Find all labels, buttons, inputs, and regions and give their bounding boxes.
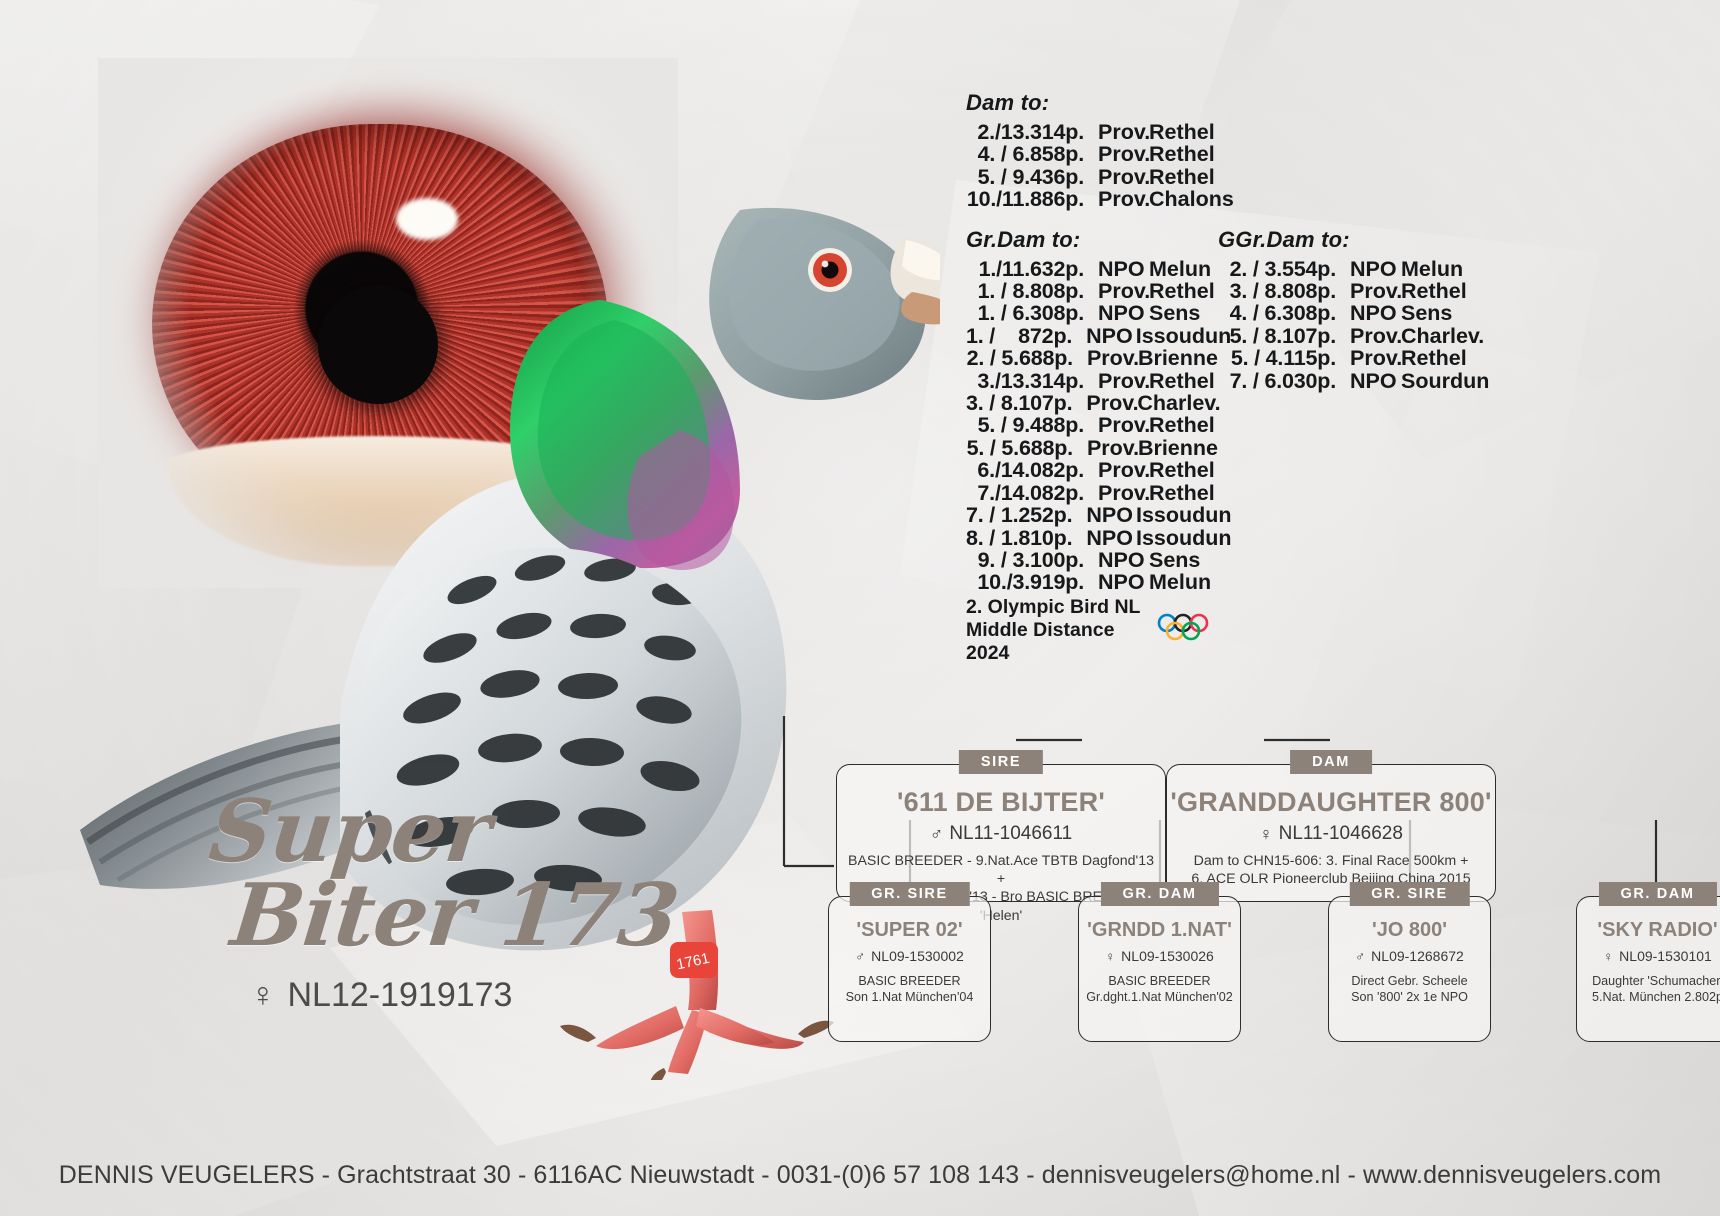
palmares-row: 6./14.082p. Prov. Rethel [966,459,1218,481]
grandparent-ring: ♀ NL09-1530101 [1577,948,1720,964]
palmares-org: NPO [1072,325,1133,347]
palmares-rank: 1. / 872p. [966,325,1072,347]
palmares-rank: 7. / 1.252p. [966,504,1072,526]
greatgrandam-column: GGr.Dam to: 2. / 3.554p. NPO Melun 3. / … [1218,227,1548,665]
grandparent-description: Daughter 'Schumacher' 5.Nat. München 2.8… [1577,973,1720,1005]
palmares-place: Sourdun [1398,370,1489,392]
palmares-place: Melun [1398,258,1463,280]
palmares-row: 1./11.632p. NPO Melun [966,258,1218,280]
grandparent-description-line1: Direct Gebr. Scheele [1334,973,1485,989]
title-line-2: Biter 173 [228,874,775,958]
palmares-rank: 6./14.082p. [966,459,1084,481]
palmares-place: Rethel [1146,166,1215,188]
grandam-palmares-block: Gr.Dam to: 1./11.632p. NPO Melun 1. / 8.… [966,227,1666,665]
palmares-place: Sens [1398,302,1452,324]
palmares-org: NPO [1072,527,1133,549]
grandparent-ring: ♀ NL09-1530026 [1079,948,1240,964]
palmares-org: Prov. [1073,437,1135,459]
grandparent-description-line2: Son 1.Nat München'04 [834,989,985,1005]
palmares-org: Prov. [1084,280,1146,302]
palmares-place: Rethel [1146,482,1215,504]
palmares-place: Rethel [1398,347,1467,369]
female-symbol-icon: ♀ [250,976,276,1015]
olympic-achievement: 2. Olympic Bird NL Middle Distance 2024 [966,596,1218,665]
palmares-org: Prov. [1084,414,1146,436]
palmares-place: Rethel [1398,280,1467,302]
palmares-org: NPO [1084,302,1146,324]
palmares-org: NPO [1336,370,1398,392]
palmares-rank: 5. / 4.115p. [1218,347,1336,369]
grandparent-ring-number: NL09-1268672 [1371,948,1464,964]
dam-ring: ♀ NL11-1046628 [1167,823,1495,845]
palmares-rank: 2. / 3.554p. [1218,258,1336,280]
palmares-row: 2. / 3.554p. NPO Melun [1218,258,1548,280]
palmares-place: Charlev. [1134,392,1220,414]
palmares-place: Rethel [1146,121,1215,143]
palmares-place: Chalons [1146,188,1234,210]
grandparent-name: 'SUPER 02' [829,919,990,942]
male-symbol-icon: ♂ [930,824,944,845]
palmares-row: 5. / 5.688p. Prov. Brienne [966,437,1218,459]
palmares-org: Prov. [1336,280,1398,302]
palmares-row: 4. / 6.858p. Prov. Rethel [966,143,1666,165]
palmares-rank: 5. / 9.488p. [966,414,1084,436]
palmares-place: Charlev. [1398,325,1484,347]
palmares-row: 2. / 5.688p. Prov. Brienne [966,347,1218,369]
bird-title: Super Biter 173 ♀ NL12-1919173 [210,790,770,1015]
grandparent-ring: ♂ NL09-1530002 [829,948,990,964]
grandparent-description: Direct Gebr. Scheele Son '800' 2x 1e NPO [1329,973,1490,1005]
palmares-org: Prov. [1084,166,1146,188]
palmares-row: 5. / 4.115p. Prov. Rethel [1218,347,1548,369]
grandparent-name: 'SKY RADIO' [1577,919,1720,942]
footer-contact: DENNIS VEUGELERS - Grachtstraat 30 - 611… [0,1161,1720,1190]
palmares-rank: 5. / 8.107p. [1218,325,1336,347]
grandparent-description: BASIC BREEDER Gr.dght.1.Nat München'02 [1079,973,1240,1005]
palmares-place: Melun [1146,571,1211,593]
male-symbol-icon: ♂ [855,949,865,964]
pedigree-box-grandparent-2[interactable]: GR. DAM 'GRNDD 1.NAT' ♀ NL09-1530026 BAS… [1078,896,1241,1042]
palmares-org: Prov. [1084,143,1146,165]
palmares-row: 2./13.314p. Prov. Rethel [966,121,1666,143]
palmares-row: 9. / 3.100p. NPO Sens [966,549,1218,571]
palmares-row: 10./3.919p. NPO Melun [966,571,1218,593]
sire-ring-number: NL11-1046611 [949,823,1072,845]
bird-ring-line: ♀ NL12-1919173 [250,976,770,1015]
palmares-rank: 1. / 6.308p. [966,302,1084,324]
palmares-row: 3. / 8.808p. Prov. Rethel [1218,280,1548,302]
sire-tag: SIRE [959,750,1043,774]
grandparent-name: 'JO 800' [1329,919,1490,942]
dam-ring-number: NL11-1046628 [1279,823,1403,845]
palmares-row: 5. / 9.436p. Prov. Rethel [966,166,1666,188]
palmares-rank: 2./13.314p. [966,121,1084,143]
palmares-org: Prov. [1073,347,1135,369]
palmares-org: NPO [1072,504,1133,526]
palmares-org: Prov. [1072,392,1134,414]
palmares-place: Melun [1146,258,1211,280]
palmares-row: 7./14.082p. Prov. Rethel [966,482,1218,504]
palmares-place: Rethel [1146,370,1215,392]
grandparent-tag: GR. DAM [1100,882,1218,906]
palmares-rank: 10./11.886p. [966,188,1084,210]
palmares-row: 5. / 8.107p. Prov. Charlev. [1218,325,1548,347]
palmares-rank: 1. / 8.808p. [966,280,1084,302]
palmares-place: Sens [1146,549,1200,571]
grandparent-tag: GR. SIRE [849,882,969,906]
palmares-place: Issoudun [1133,527,1232,549]
female-symbol-icon: ♀ [1603,949,1613,964]
palmares-row: 1. / 6.308p. NPO Sens [966,302,1218,324]
male-symbol-icon: ♂ [1355,949,1365,964]
grandparent-tag: GR. DAM [1598,882,1716,906]
grandparent-description-line1: Daughter 'Schumacher' [1582,973,1720,989]
palmares-org: Prov. [1084,459,1146,481]
palmares-org: NPO [1336,302,1398,324]
palmares-rank: 3./13.314p. [966,370,1084,392]
grandparent-description-line2: Son '800' 2x 1e NPO [1334,989,1485,1005]
palmares-place: Rethel [1146,414,1215,436]
palmares-rank: 8. / 1.810p. [966,527,1072,549]
palmares-row: 8. / 1.810p. NPO Issoudun [966,527,1218,549]
palmares-rank: 5. / 9.436p. [966,166,1084,188]
dam-description-line1: Dam to CHN15-606: 3. Final Race 500km + [1175,852,1487,870]
title-line-1: Super [206,790,775,874]
palmares-rank: 4. / 6.858p. [966,143,1084,165]
palmares-row: 7. / 1.252p. NPO Issoudun [966,504,1218,526]
grandparent-description-line1: BASIC BREEDER [834,973,985,989]
greatgrandam-palmares-heading: GGr.Dam to: [1218,227,1548,253]
palmares-place: Rethel [1146,143,1215,165]
palmares-org: Prov. [1084,482,1146,504]
pedigree-box-grandparent-1[interactable]: GR. SIRE 'SUPER 02' ♂ NL09-1530002 BASIC… [828,896,991,1042]
grandparent-ring: ♂ NL09-1268672 [1329,948,1490,964]
palmares-rank: 9. / 3.100p. [966,549,1084,571]
grandparent-description-line2: Gr.dght.1.Nat München'02 [1084,989,1235,1005]
palmares-row: 3. / 8.107p. Prov. Charlev. [966,392,1218,414]
palmares-rank: 10./3.919p. [966,571,1084,593]
palmares-place: Sens [1146,302,1200,324]
palmares-org: NPO [1336,258,1398,280]
pedigree-tree: SIRE '611 DE BIJTER' ♂ NL11-1046611 BASI… [770,716,1700,1056]
pedigree-poster: 1761 Dam to: 2./13.314p. Prov. Rethel [0,0,1720,1216]
palmares-place: Rethel [1146,459,1215,481]
palmares-rank: 2. / 5.688p. [966,347,1073,369]
grandam-palmares-heading: Gr.Dam to: [966,227,1218,253]
bird-ring-number: NL12-1919173 [288,976,513,1015]
grandparent-tag: GR. SIRE [1349,882,1469,906]
grandparent-ring-number: NL09-1530026 [1121,948,1214,964]
palmares-rank: 1./11.632p. [966,258,1084,280]
palmares-place: Rethel [1146,280,1215,302]
palmares-org: NPO [1084,258,1146,280]
female-symbol-icon: ♀ [1105,949,1115,964]
palmares-row: 4. / 6.308p. NPO Sens [1218,302,1548,324]
pedigree-box-grandparent-4[interactable]: GR. DAM 'SKY RADIO' ♀ NL09-1530101 Daugh… [1576,896,1720,1042]
sire-ring: ♂ NL11-1046611 [837,823,1165,845]
palmares-row: 3./13.314p. Prov. Rethel [966,370,1218,392]
palmares-rank: 3. / 8.808p. [1218,280,1336,302]
pedigree-box-grandparent-3[interactable]: GR. SIRE 'JO 800' ♂ NL09-1268672 Direct … [1328,896,1491,1042]
dam-tag: DAM [1290,750,1372,774]
palmares-row: 1. / 8.808p. Prov. Rethel [966,280,1218,302]
palmares-row: 5. / 9.488p. Prov. Rethel [966,414,1218,436]
grandparent-ring-number: NL09-1530002 [871,948,964,964]
palmares-org: Prov. [1084,188,1146,210]
grandam-column: Gr.Dam to: 1./11.632p. NPO Melun 1. / 8.… [966,227,1218,665]
palmares-org: NPO [1084,571,1146,593]
grandparent-name: 'GRNDD 1.NAT' [1079,919,1240,942]
palmares-place: Brienne [1135,347,1218,369]
palmares-panel: Dam to: 2./13.314p. Prov. Rethel 4. / 6.… [966,90,1666,665]
dam-palmares-block: Dam to: 2./13.314p. Prov. Rethel 4. / 6.… [966,90,1666,211]
palmares-org: Prov. [1336,347,1398,369]
grandparent-ring-number: NL09-1530101 [1619,948,1712,964]
olympic-rings-icon [1156,612,1218,648]
dam-palmares-heading: Dam to: [966,90,1666,116]
palmares-rank: 7. / 6.030p. [1218,370,1336,392]
olympic-label: 2. Olympic Bird NL Middle Distance 2024 [966,596,1148,665]
palmares-org: Prov. [1336,325,1398,347]
grandparent-description: BASIC BREEDER Son 1.Nat München'04 [829,973,990,1005]
palmares-org: Prov. [1084,370,1146,392]
palmares-rank: 3. / 8.107p. [966,392,1072,414]
palmares-place: Issoudun [1133,325,1232,347]
grandparent-description-line1: BASIC BREEDER [1084,973,1235,989]
palmares-org: Prov. [1084,121,1146,143]
sire-name: '611 DE BIJTER' [837,787,1165,818]
palmares-row: 10./11.886p. Prov. Chalons [966,188,1666,210]
grandparent-description-line2: 5.Nat. München 2.802p [1582,989,1720,1005]
palmares-rank: 7./14.082p. [966,482,1084,504]
palmares-rank: 4. / 6.308p. [1218,302,1336,324]
palmares-row: 7. / 6.030p. NPO Sourdun [1218,370,1548,392]
palmares-place: Issoudun [1133,504,1232,526]
female-symbol-icon: ♀ [1259,824,1273,845]
palmares-org: NPO [1084,549,1146,571]
palmares-place: Brienne [1135,437,1218,459]
palmares-rank: 5. / 5.688p. [966,437,1073,459]
dam-name: 'GRANDDAUGHTER 800' [1167,787,1495,818]
palmares-row: 1. / 872p. NPO Issoudun [966,325,1218,347]
